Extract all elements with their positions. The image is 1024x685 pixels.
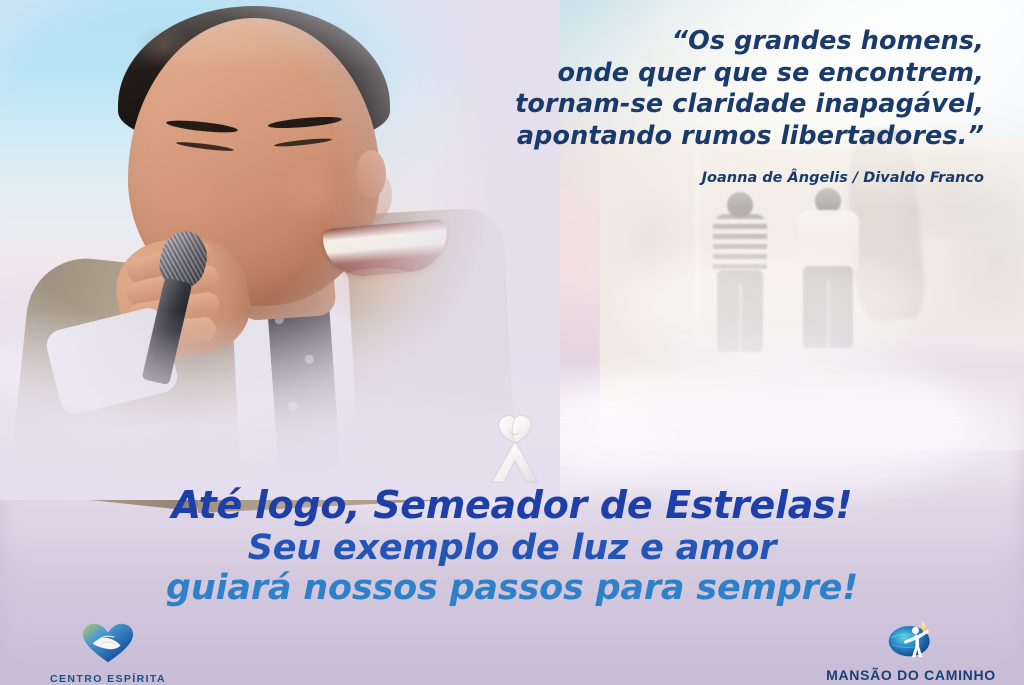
memorial-poster: “Os grandes homens, onde quer que se enc… xyxy=(0,0,1024,685)
quote-line-4: apontando rumos libertadores.” xyxy=(344,121,984,153)
logo-left-line-1: CENTRO ESPÍRITA xyxy=(10,673,206,685)
headline-line-3: guiará nossos passos para sempre! xyxy=(0,570,1024,606)
headline-block: Até logo, Semeador de Estrelas! Seu exem… xyxy=(0,486,1024,606)
cloud-upper-right xyxy=(620,250,920,360)
logo-centro-espirita-caminho-da-redencao: CENTRO ESPÍRITA CAMINHO DA REDENÇÃO xyxy=(10,622,206,685)
globe-figure-flame-icon xyxy=(804,618,1018,664)
headline-line-2: Seu exemplo de luz e amor xyxy=(0,530,1024,566)
headline-line-1: Até logo, Semeador de Estrelas! xyxy=(0,486,1024,526)
quote-line-2: onde quer que se encontrem, xyxy=(344,58,984,90)
white-ribbon-icon xyxy=(482,413,548,483)
logo-mansao-do-caminho: MANSÃO DO CAMINHO xyxy=(804,618,1018,684)
quote-line-1: “Os grandes homens, xyxy=(344,26,984,58)
heart-hand-icon xyxy=(10,622,206,670)
quote-text: “Os grandes homens, onde quer que se enc… xyxy=(344,26,984,152)
logo-right-line-1: MANSÃO DO CAMINHO xyxy=(804,667,1018,684)
quote-attribution: Joanna de Ângelis / Divaldo Franco xyxy=(344,170,984,186)
quote-line-3: tornam-se claridade inapagável, xyxy=(344,89,984,121)
